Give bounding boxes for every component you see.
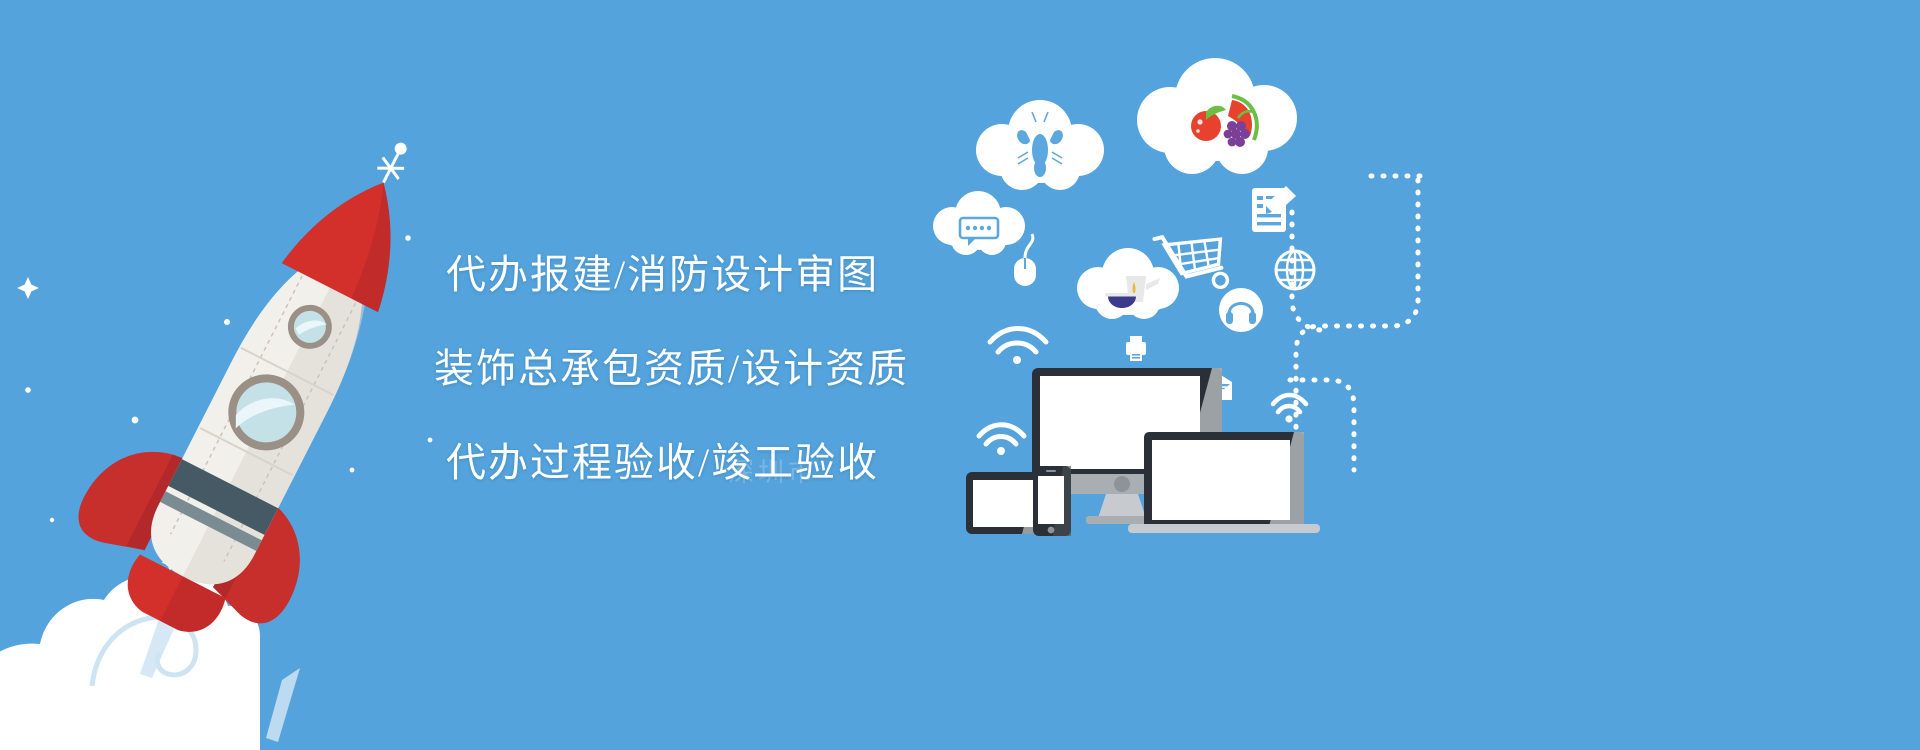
headline-block: 代办报建/消防设计审图 装饰总承包资质/设计资质 代办过程验收/竣工验收 (440, 255, 1200, 483)
cloud-chat (933, 191, 1025, 255)
cloud-lobster (976, 100, 1104, 190)
headphones-icon (1219, 288, 1263, 332)
note-edit-icon (1252, 186, 1296, 232)
headline-line-3: 代办过程验收/竣工验收 (446, 443, 1200, 483)
globe-icon (1276, 251, 1314, 289)
cloud-shape (933, 191, 1025, 255)
hero-banner: 代办报建/消防设计审图 装饰总承包资质/设计资质 代办过程验收/竣工验收 深圳市 (0, 0, 1920, 750)
cloud-fruit (1137, 58, 1297, 174)
headline-line-2: 装饰总承包资质/设计资质 (434, 349, 1200, 389)
headline-line-1: 代办报建/消防设计审图 (446, 255, 1200, 295)
connector-fruit-to-screen (1296, 180, 1418, 452)
wifi-icon-right (1273, 395, 1306, 423)
dotted-connectors (1290, 176, 1420, 470)
